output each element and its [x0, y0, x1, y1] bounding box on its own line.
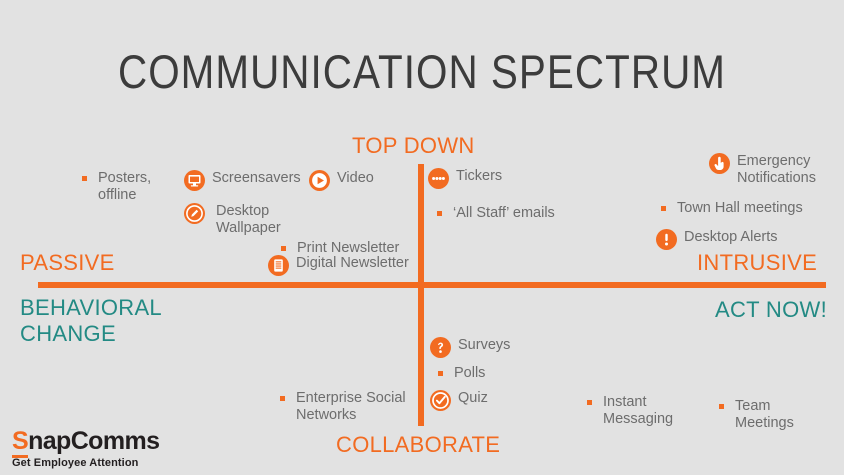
item-label: Posters, offline: [98, 170, 151, 204]
check-circle-icon: [430, 390, 451, 411]
axis-label-top-down: TOP DOWN: [352, 133, 475, 159]
item-digital-newsletter: Digital Newsletter: [268, 255, 409, 276]
axis-sublabel-behavioral-change: BEHAVIORAL CHANGE: [20, 295, 200, 347]
item-label: Video: [337, 170, 374, 187]
item-label: Tickers: [456, 168, 502, 185]
brand-logo: SnapComms Get Employee Attention: [12, 428, 159, 469]
item-surveys: Surveys: [430, 337, 510, 358]
bullet-icon: [587, 400, 592, 405]
logo-tagline: Get Employee Attention: [12, 457, 159, 469]
item-video: Video: [309, 170, 374, 191]
item-all-staff-emails: ‘All Staff’ emails: [437, 205, 555, 222]
ticker-icon: [428, 168, 449, 189]
horizontal-axis: [38, 282, 826, 288]
item-label: Emergency Notifications: [737, 153, 816, 187]
play-icon: [309, 170, 330, 191]
item-instant-messaging: Instant Messaging: [587, 394, 673, 428]
axis-label-collaborate: COLLABORATE: [336, 432, 500, 458]
item-desktop-wallpaper: Desktop Wallpaper: [184, 203, 281, 237]
document-icon: [268, 255, 289, 276]
item-label: Polls: [454, 365, 485, 382]
item-polls: Polls: [438, 365, 485, 382]
slide-canvas: COMMUNICATION SPECTRUM TOP DOWN PASSIVE …: [0, 0, 844, 475]
pencil-edit-icon: [184, 203, 205, 224]
bullet-icon: [82, 176, 87, 181]
page-title: COMMUNICATION SPECTRUM: [59, 44, 785, 99]
bullet-icon: [438, 371, 443, 376]
logo-wordmark: SnapComms: [12, 428, 159, 454]
axis-sublabel-act-now: ACT NOW!: [715, 297, 827, 323]
item-quiz: Quiz: [430, 390, 488, 411]
logo-rest: napComms: [28, 427, 159, 455]
item-label: Instant Messaging: [603, 394, 673, 428]
bullet-icon: [437, 211, 442, 216]
bullet-icon: [280, 396, 285, 401]
touch-hand-icon: [709, 153, 730, 174]
question-mark-icon: [430, 337, 451, 358]
item-town-hall-meetings: Town Hall meetings: [661, 200, 803, 217]
bullet-icon: [281, 246, 286, 251]
item-tickers: Tickers: [428, 168, 502, 189]
monitor-icon: [184, 170, 205, 191]
item-label: Town Hall meetings: [677, 200, 803, 217]
item-label: Enterprise Social Networks: [296, 390, 406, 424]
logo-initial: S: [12, 427, 28, 458]
bullet-icon: [661, 206, 666, 211]
item-label: Quiz: [458, 390, 488, 407]
item-label: Digital Newsletter: [296, 255, 409, 272]
item-label: ‘All Staff’ emails: [453, 205, 555, 222]
item-label: Desktop Wallpaper: [216, 203, 281, 237]
item-desktop-alerts: Desktop Alerts: [656, 229, 778, 250]
item-label: Desktop Alerts: [684, 229, 778, 246]
item-label: Team Meetings: [735, 398, 794, 432]
item-label: Surveys: [458, 337, 510, 354]
item-emergency-notifications: Emergency Notifications: [709, 153, 816, 187]
axis-label-intrusive: INTRUSIVE: [697, 250, 817, 276]
item-enterprise-social-networks: Enterprise Social Networks: [280, 390, 406, 424]
axis-label-passive: PASSIVE: [20, 250, 115, 276]
item-screensavers: Screensavers: [184, 170, 301, 191]
vertical-axis: [418, 164, 424, 426]
item-team-meetings: Team Meetings: [719, 398, 794, 432]
item-label: Screensavers: [212, 170, 301, 187]
alert-exclamation-icon: [656, 229, 677, 250]
item-posters-offline: Posters, offline: [82, 170, 151, 204]
bullet-icon: [719, 404, 724, 409]
